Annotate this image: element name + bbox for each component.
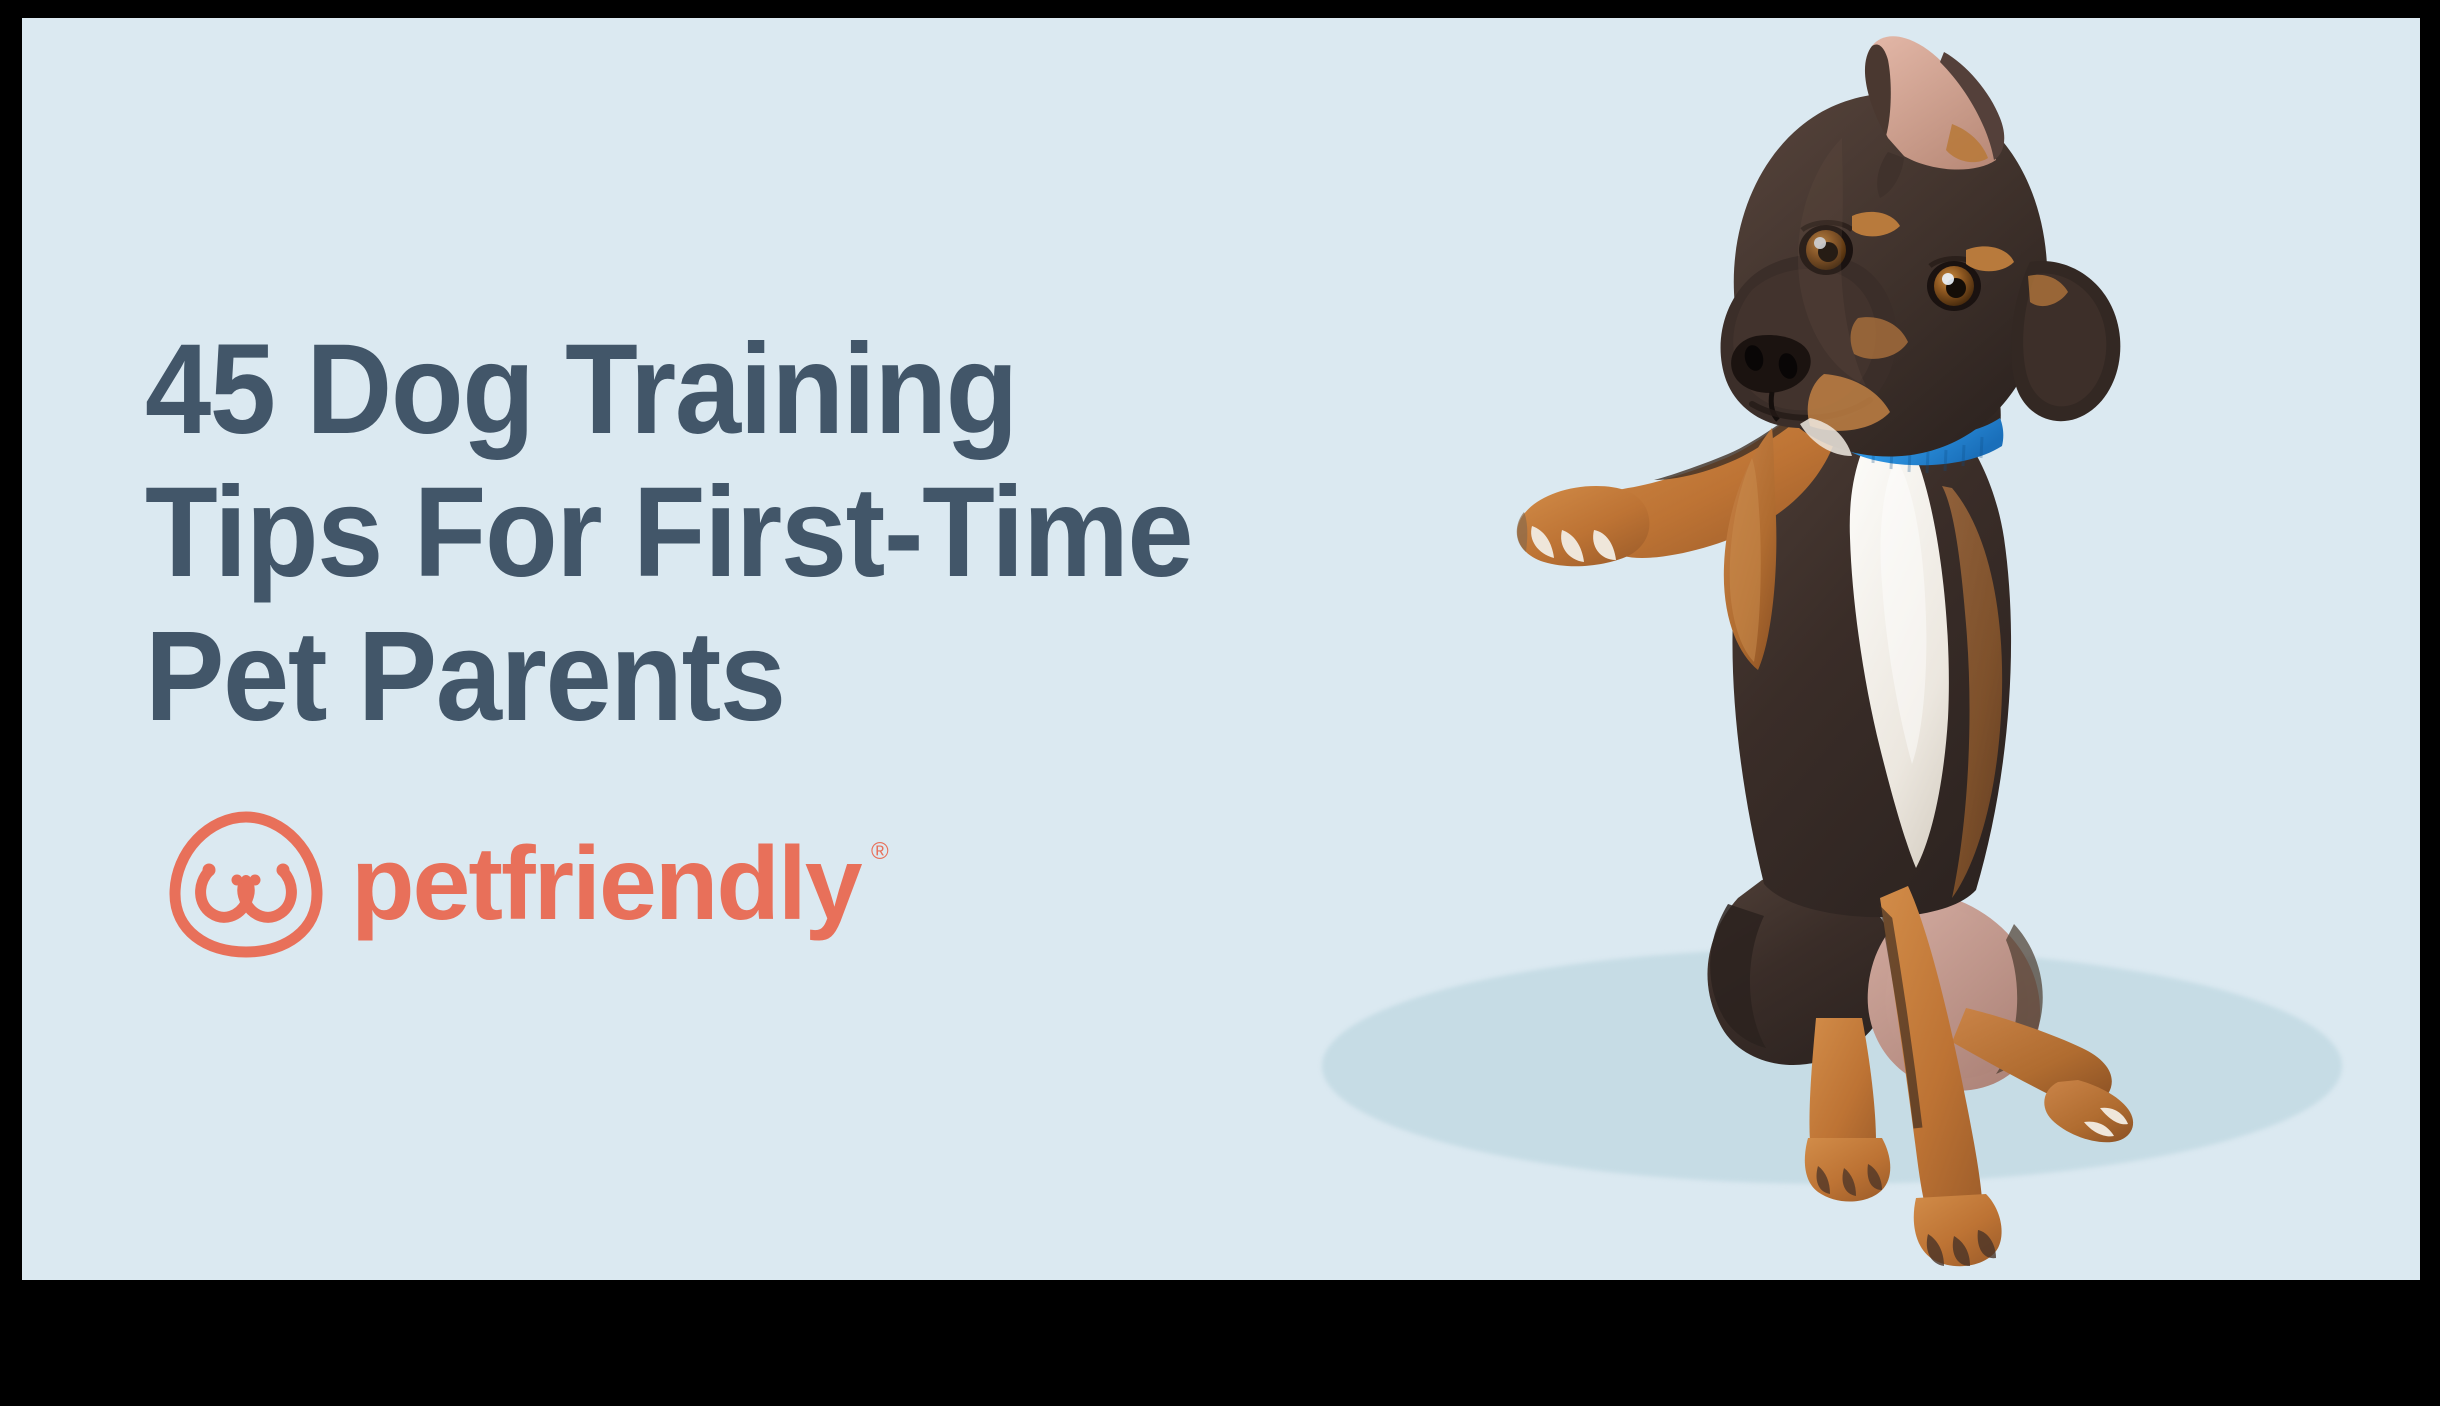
registered-trademark-symbol: ® [871, 840, 887, 864]
brand-wordmark: petfriendly® [351, 832, 887, 936]
headline-line-2: Tips For First-Time [145, 461, 1373, 604]
screenshot-stage: 45 Dog Training Tips For First-Time Pet … [0, 0, 2440, 1406]
petfriendly-paw-egg-icon [167, 810, 325, 958]
headline-line-1: 45 Dog Training [145, 318, 1373, 461]
dog-illustration [1252, 18, 2420, 1280]
page-title: 45 Dog Training Tips For First-Time Pet … [145, 318, 1373, 748]
brand-logo[interactable]: petfriendly® [167, 810, 887, 958]
hero-card: 45 Dog Training Tips For First-Time Pet … [22, 18, 2420, 1280]
headline-line-3: Pet Parents [145, 605, 1373, 748]
dog-photo [1252, 18, 2420, 1280]
brand-wordmark-text: petfriendly [351, 826, 861, 942]
